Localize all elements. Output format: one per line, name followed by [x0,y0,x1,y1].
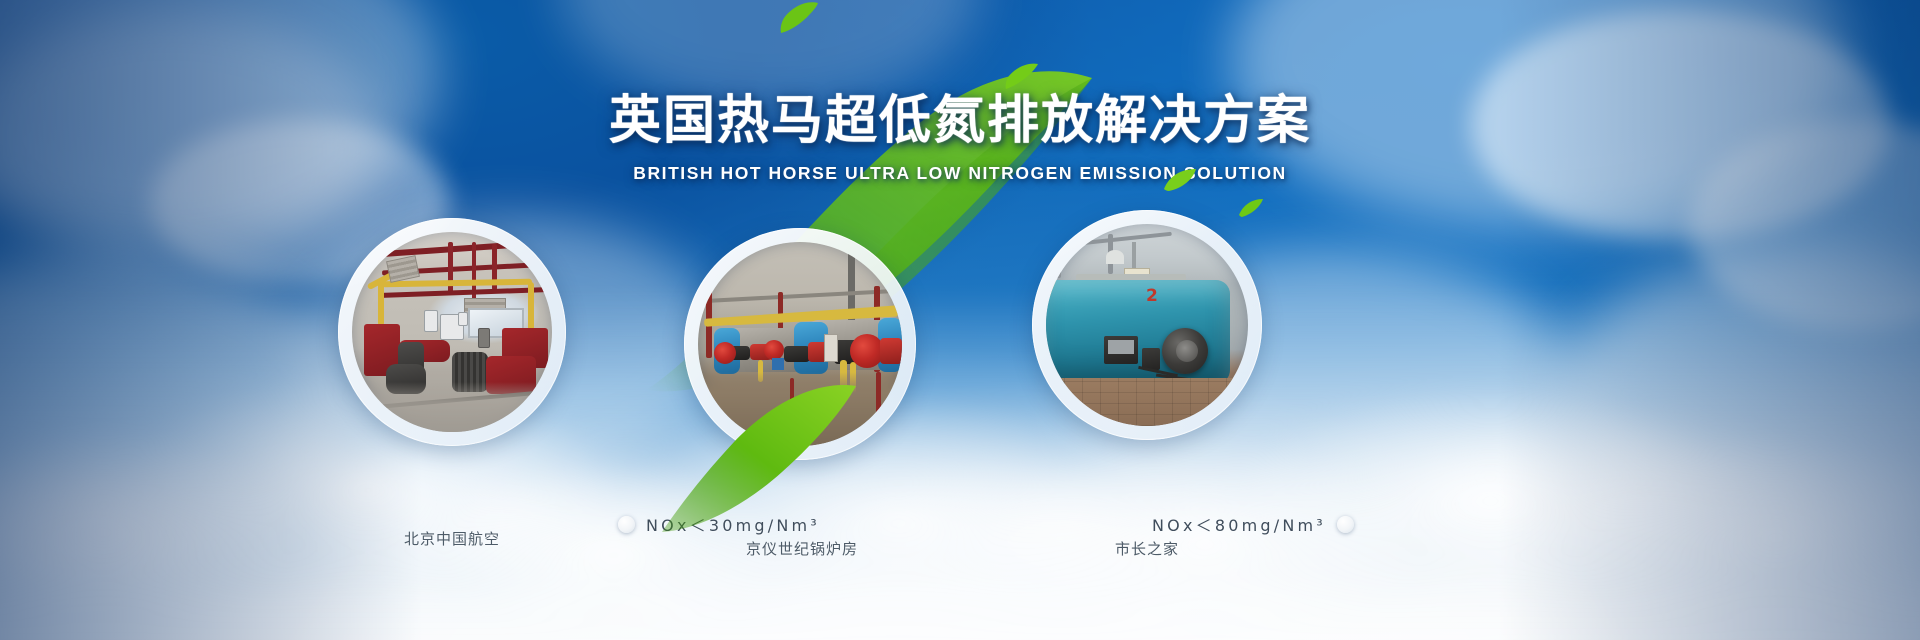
tank-number-label: 2 [1146,286,1158,306]
photo-large-blue-boiler-tank: 2 [1046,224,1248,426]
photo-boiler-room-red-burners [352,232,552,432]
nox-badge-label: NOx＜30mg/Nm³ [646,512,820,536]
showcase-caption: 北京中国航空 [338,528,566,549]
bullet-dot-icon [618,516,635,533]
showcase-row: 北京中国航空 NOx＜30mg/Nm³ [0,0,1920,640]
nox-badge-label: NOx＜80mg/Nm³ [1152,512,1326,536]
nox-badge-30: NOx＜30mg/Nm³ [618,512,820,536]
nox-badge-80: NOx＜80mg/Nm³ [1152,512,1354,536]
showcase-caption: 京仪世纪锅炉房 [686,538,918,559]
bullet-dot-icon [1337,516,1354,533]
photo-boiler-house-blue-drums [698,242,902,446]
showcase-caption: 市长之家 [1032,538,1262,559]
promo-banner: 英国热马超低氮排放解决方案 BRITISH HOT HORSE ULTRA LO… [0,0,1920,640]
